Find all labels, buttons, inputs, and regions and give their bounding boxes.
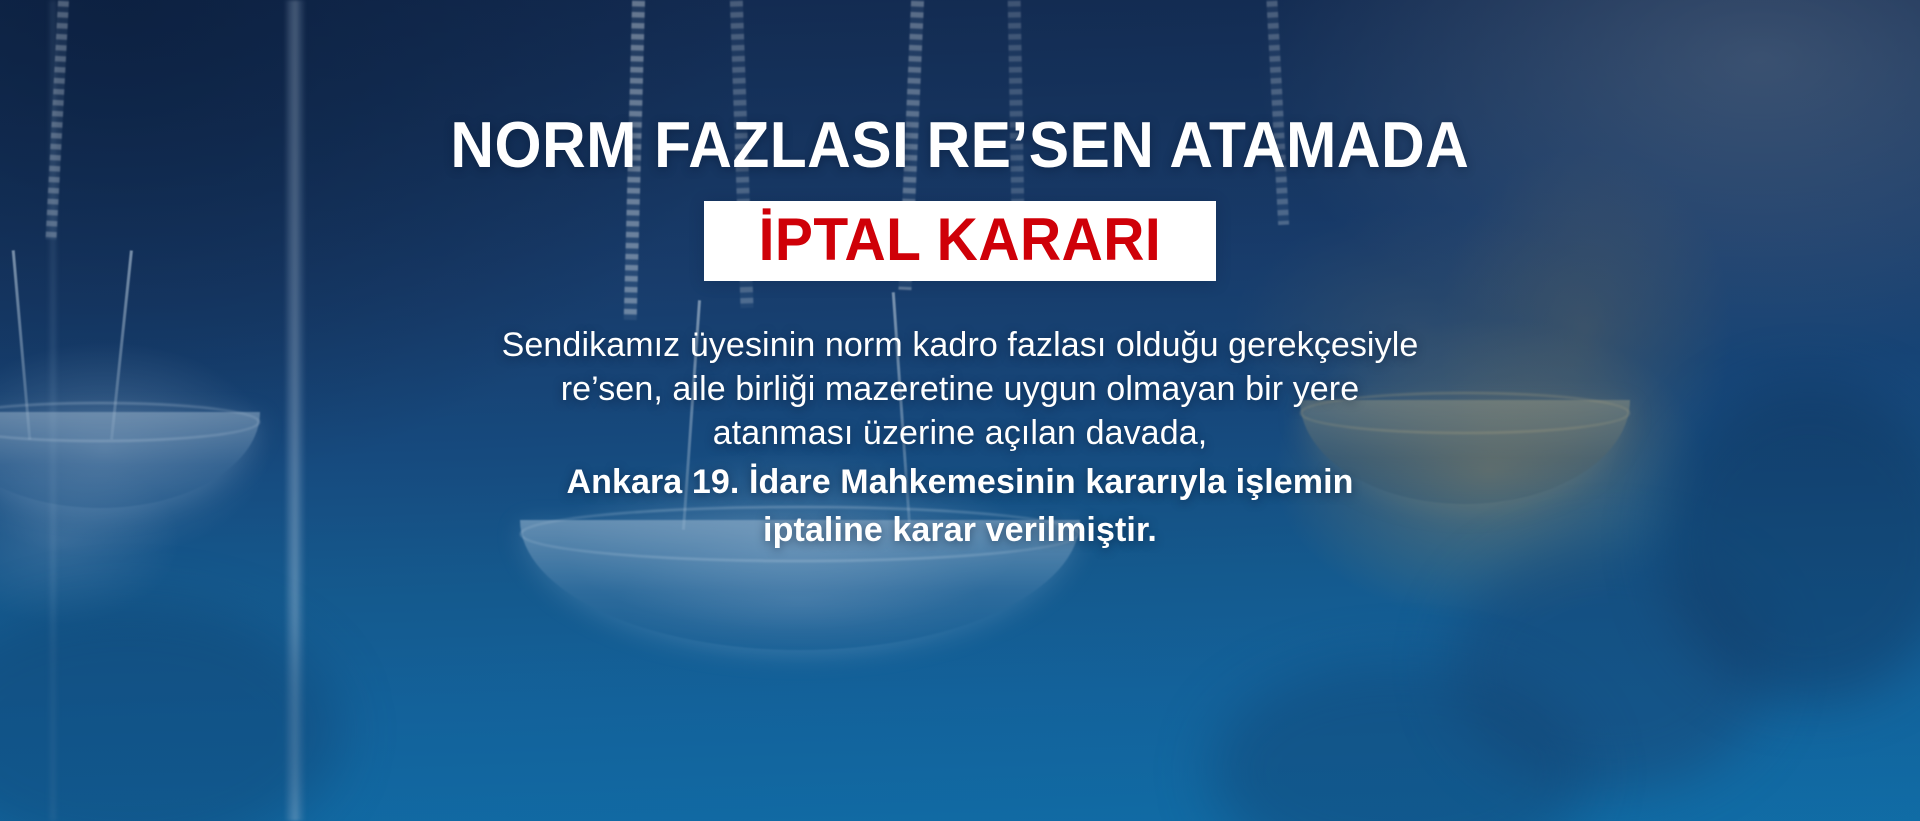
body-emphasis-line-2: iptaline karar verilmiştir.	[410, 508, 1510, 552]
body-emphasis-line-1: Ankara 19. İdare Mahkemesinin kararıyla …	[410, 460, 1510, 504]
body-line-1: Sendikamız üyesinin norm kadro fazlası o…	[410, 323, 1510, 367]
banner-body: Sendikamız üyesinin norm kadro fazlası o…	[410, 323, 1510, 552]
banner-content: NORM FAZLASI RE’SEN ATAMADA İPTAL KARARI…	[0, 0, 1920, 821]
news-banner: NORM FAZLASI RE’SEN ATAMADA İPTAL KARARI…	[0, 0, 1920, 821]
banner-headline: NORM FAZLASI RE’SEN ATAMADA	[451, 112, 1470, 177]
body-line-3: atanması üzerine açılan davada,	[410, 411, 1510, 455]
body-line-2: re’sen, aile birliği mazeretine uygun ol…	[410, 367, 1510, 411]
highlight-box-label: İPTAL KARARI	[759, 210, 1162, 270]
highlight-box: İPTAL KARARI	[704, 201, 1216, 281]
